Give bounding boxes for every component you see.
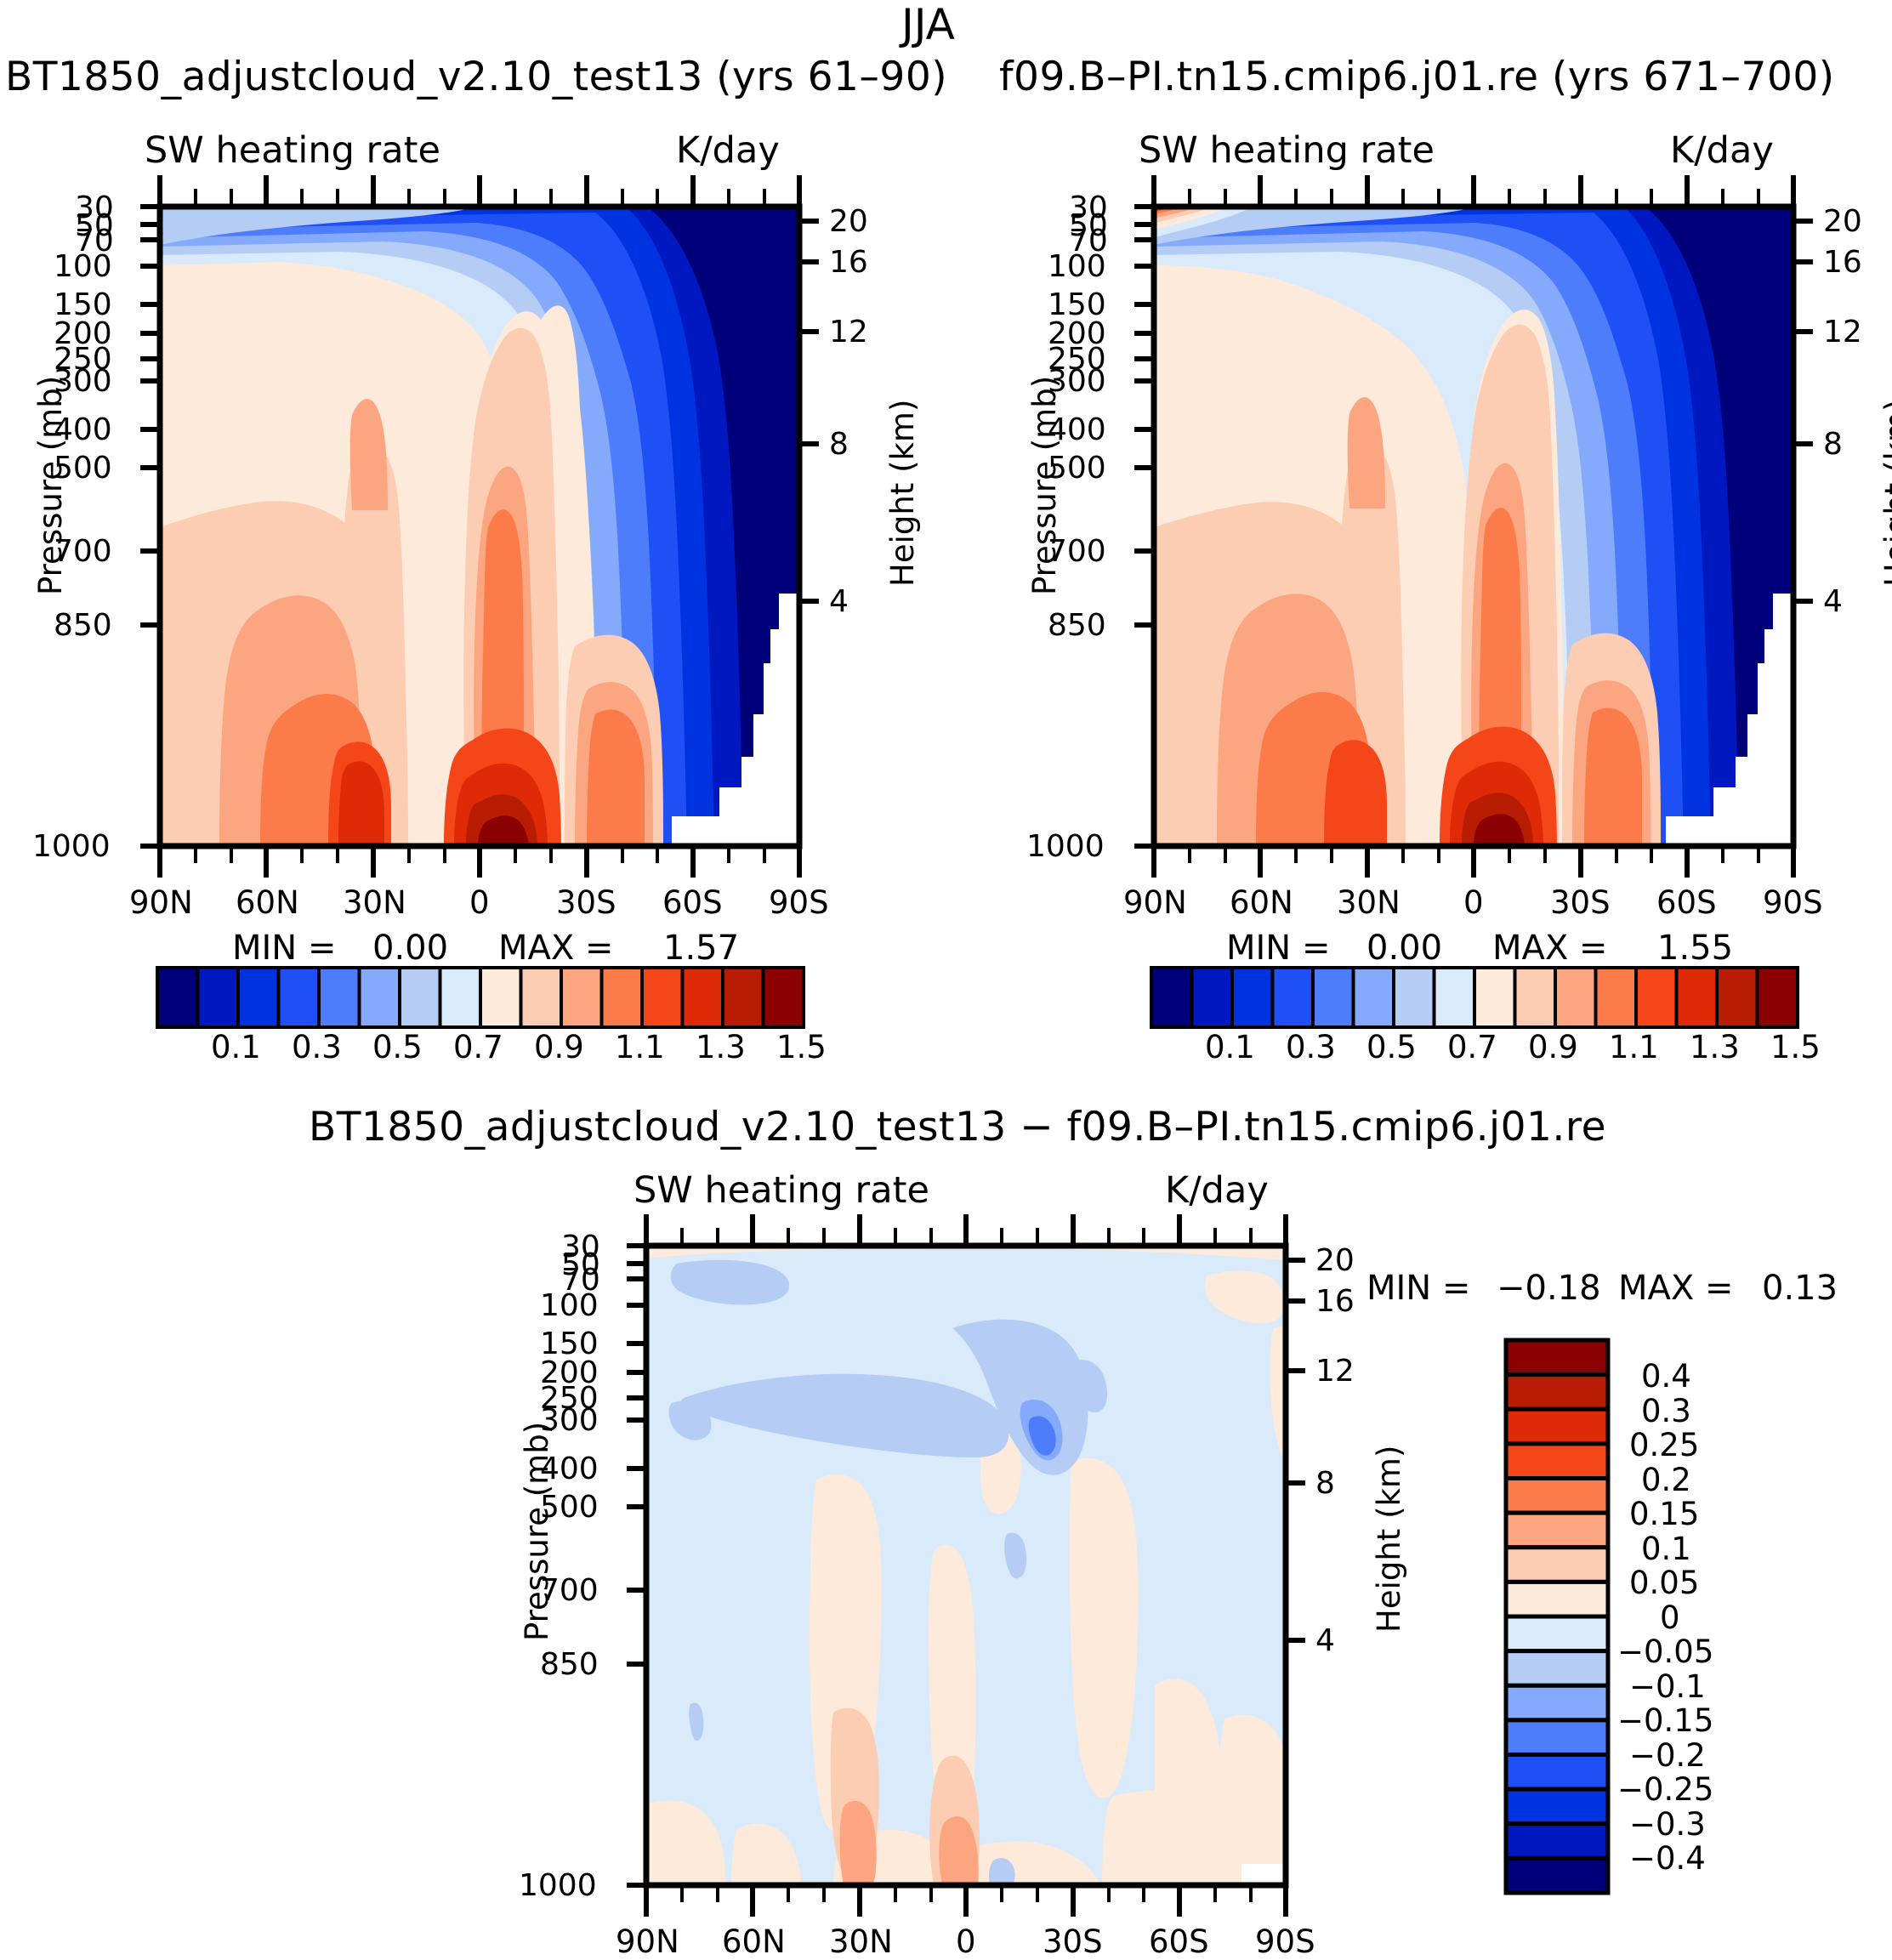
colorbar-swatch <box>561 968 602 1027</box>
colorbar-swatch <box>279 968 320 1027</box>
y2-tick-label-20-diff: 20 <box>1315 1243 1355 1278</box>
colorbar-swatch <box>238 968 279 1027</box>
colorbar-swatch <box>1636 968 1677 1027</box>
max-value-diff: 0.13 <box>1762 1269 1838 1308</box>
colorbar-swatch <box>480 968 521 1027</box>
colorbar-diff-label-11: −0.2 <box>1629 1737 1706 1774</box>
colorbar-swatch <box>1506 1616 1608 1651</box>
y-tick-label-1000-left: 1000 <box>32 829 111 864</box>
y2-tick-label-8-right: 8 <box>1823 427 1843 462</box>
x-tick-label-30S-left: 30S <box>556 884 616 921</box>
y-tick-label-850-diff: 850 <box>540 1647 599 1682</box>
x-tick-label-30N-right: 30N <box>1337 884 1401 921</box>
y-tick-label-500-left: 500 <box>54 451 112 486</box>
y2-tick-label-12-diff: 12 <box>1315 1354 1355 1389</box>
x-tick-label-90N-diff: 90N <box>616 1923 679 1960</box>
y-tick-label-100-diff: 100 <box>540 1288 599 1323</box>
y2-tick-label-4-diff: 4 <box>1315 1623 1335 1658</box>
colorbar-swatch <box>642 968 683 1027</box>
var-label-diff: SW heating rate <box>634 1169 929 1212</box>
x-ticks-left <box>160 846 799 878</box>
colorbar-swatch <box>198 968 239 1027</box>
y-tick-label-100-left: 100 <box>54 249 112 284</box>
colorbar-swatch <box>1313 968 1354 1027</box>
colorbar-diff-label-14: −0.4 <box>1629 1840 1706 1877</box>
max-label-right: MAX = <box>1492 929 1608 968</box>
x-ticks-right <box>1154 846 1793 878</box>
colorbar-swatch <box>1506 1651 1608 1686</box>
x-tick-label-90S-right: 90S <box>1763 884 1823 921</box>
y2-tick-label-20-left: 20 <box>829 204 868 239</box>
colorbar-swatch <box>1506 1513 1608 1548</box>
x-tick-label-60S-right: 60S <box>1656 884 1717 921</box>
colorbar-diff-label-6: 0.05 <box>1629 1565 1699 1601</box>
min-label-right: MIN = <box>1226 929 1330 968</box>
x-tick-label-30N-diff: 30N <box>829 1923 893 1960</box>
colorbar-swatch <box>723 968 764 1027</box>
colorbar-swatch <box>1506 1755 1608 1790</box>
colorbar-swatch <box>1506 1685 1608 1720</box>
contour-field-left <box>160 207 799 846</box>
colorbar-swatch <box>157 968 198 1027</box>
y2-tick-label-4-left: 4 <box>829 584 849 619</box>
colorbar-swatch <box>1394 968 1435 1027</box>
colorbar-swatch <box>683 968 724 1027</box>
colorbar-swatch <box>1192 968 1233 1027</box>
min-value-right: 0.00 <box>1366 929 1442 968</box>
colorbar-diff-label-10: −0.15 <box>1617 1702 1713 1739</box>
colorbar-left-label-7: 1.5 <box>776 1029 827 1065</box>
colorbar-swatch <box>1474 968 1515 1027</box>
colorbar-swatch <box>1506 1479 1608 1514</box>
x-tick-label-30S-right: 30S <box>1550 884 1611 921</box>
x-tick-label-60N-right: 60N <box>1230 884 1293 921</box>
colorbar-diff-label-5: 0.1 <box>1641 1531 1691 1567</box>
colorbar-diff-label-12: −0.25 <box>1617 1771 1713 1808</box>
y-tick-label-300-diff: 300 <box>540 1403 599 1438</box>
units-label-diff: K/day <box>1165 1169 1269 1212</box>
max-label-left: MAX = <box>498 929 614 968</box>
colorbar-right[interactable] <box>1151 968 1798 1027</box>
colorbar-left-label-6: 1.3 <box>696 1029 746 1065</box>
x-tick-label-60S-left: 60S <box>662 884 723 921</box>
x-tick-label-90S-left: 90S <box>769 884 829 921</box>
colorbar-swatch <box>400 968 440 1027</box>
min-value-left: 0.00 <box>372 929 448 968</box>
y-tick-label-700-right: 700 <box>1048 534 1106 569</box>
y-tick-label-1000-right: 1000 <box>1026 829 1105 864</box>
panel-title-right: f09.B–PI.tn15.cmip6.j01.re (yrs 671–700) <box>999 54 1835 100</box>
units-label-left: K/day <box>676 129 780 172</box>
colorbar-left-swatches[interactable] <box>157 968 804 1027</box>
colorbar-left-label-3: 0.7 <box>453 1029 503 1065</box>
colorbar-left-label-5: 1.1 <box>615 1029 665 1065</box>
x-tick-label-30S-diff: 30S <box>1043 1923 1103 1960</box>
colorbar-swatch <box>1273 968 1314 1027</box>
max-value-right: 1.55 <box>1657 929 1733 968</box>
season-title: JJA <box>901 0 955 49</box>
var-label-right: SW heating rate <box>1139 129 1435 172</box>
colorbar-left[interactable] <box>157 968 804 1027</box>
colorbar-diff-label-2: 0.25 <box>1629 1427 1699 1463</box>
min-label-left: MIN = <box>232 929 336 968</box>
y-tick-label-1000-diff: 1000 <box>519 1868 597 1903</box>
x-ticks-diff <box>646 1885 1286 1917</box>
y2-tick-label-12-left: 12 <box>829 315 868 349</box>
colorbar-swatch <box>360 968 401 1027</box>
colorbar-swatch <box>1506 1824 1608 1859</box>
colorbar-right-label-6: 1.3 <box>1690 1029 1740 1065</box>
y2-tick-label-8-left: 8 <box>829 427 849 462</box>
colorbar-right-label-1: 0.3 <box>1286 1029 1336 1065</box>
colorbar-swatch <box>1506 1582 1608 1616</box>
y2-tick-label-16-diff: 16 <box>1315 1284 1355 1319</box>
y2-tick-label-20-right: 20 <box>1823 204 1862 239</box>
y-tick-label-850-right: 850 <box>1048 608 1106 643</box>
y-tick-label-850-left: 850 <box>54 608 112 643</box>
colorbar-swatch <box>764 968 804 1027</box>
colorbar-swatch <box>1555 968 1596 1027</box>
x-tick-label-60S-diff: 60S <box>1149 1923 1209 1960</box>
y-tick-label-300-left: 300 <box>54 364 112 399</box>
colorbar-swatch <box>1758 968 1798 1027</box>
x-tick-label-90N-right: 90N <box>1123 884 1187 921</box>
colorbar-swatch <box>1506 1789 1608 1824</box>
x-top-ticks-left <box>160 175 799 207</box>
colorbar-right-swatches[interactable] <box>1151 968 1798 1027</box>
y2-tick-label-12-right: 12 <box>1823 315 1862 349</box>
colorbar-swatch <box>1151 968 1192 1027</box>
contour-field-right <box>1154 207 1793 846</box>
colorbar-diff-label-4: 0.15 <box>1629 1496 1699 1532</box>
max-label-diff: MAX = <box>1618 1269 1734 1308</box>
colorbar-swatch <box>1506 1548 1608 1582</box>
colorbar-swatch <box>1515 968 1556 1027</box>
colorbar-swatch <box>1506 1444 1608 1479</box>
plot-area-left <box>0 170 901 918</box>
y2-tick-label-16-left: 16 <box>829 245 868 280</box>
panel-title-diff: BT1850_adjustcloud_v2.10_test13 − f09.B–… <box>309 1104 1606 1150</box>
panel-title-left: BT1850_adjustcloud_v2.10_test13 (yrs 61–… <box>5 54 947 100</box>
colorbar-left-label-0: 0.1 <box>211 1029 261 1065</box>
colorbar-swatch <box>440 968 481 1027</box>
colorbar-left-label-2: 0.5 <box>372 1029 423 1065</box>
plot-area-diff <box>476 1209 1386 1957</box>
colorbar-diff-label-3: 0.2 <box>1641 1462 1691 1498</box>
colorbar-diff-label-7: 0 <box>1660 1599 1680 1636</box>
colorbar-right-label-3: 0.7 <box>1447 1029 1497 1065</box>
colorbar-diff-label-9: −0.1 <box>1629 1668 1706 1705</box>
x-tick-label-60N-diff: 60N <box>722 1923 786 1960</box>
y-tick-label-400-diff: 400 <box>540 1452 599 1486</box>
x-tick-label-90N-left: 90N <box>129 884 193 921</box>
y2-tick-label-4-right: 4 <box>1823 584 1843 619</box>
min-label-diff: MIN = <box>1366 1269 1470 1308</box>
colorbar-swatch <box>1506 1409 1608 1444</box>
colorbar-diff-swatches[interactable] <box>1506 1340 1608 1893</box>
y-tick-label-500-diff: 500 <box>540 1490 599 1525</box>
plot-area-right <box>994 170 1892 918</box>
colorbar-diff-label-8: −0.05 <box>1617 1633 1713 1670</box>
colorbar-left-label-4: 0.9 <box>534 1029 584 1065</box>
colorbar-swatch <box>1677 968 1718 1027</box>
x-tick-label-0-right: 0 <box>1463 884 1484 921</box>
y-tick-label-700-left: 700 <box>54 534 112 569</box>
y-tick-label-100-right: 100 <box>1048 249 1106 284</box>
colorbar-right-label-4: 0.9 <box>1528 1029 1578 1065</box>
max-value-left: 1.57 <box>663 929 739 968</box>
y2-tick-label-16-right: 16 <box>1823 245 1862 280</box>
x-tick-label-30N-left: 30N <box>343 884 406 921</box>
y2-tick-label-8-diff: 8 <box>1315 1466 1335 1501</box>
contour-field-diff <box>646 1246 1286 1885</box>
colorbar-swatch <box>1354 968 1395 1027</box>
colorbar-swatch <box>1435 968 1475 1027</box>
y-tick-label-400-left: 400 <box>54 412 112 447</box>
x-tick-label-0-left: 0 <box>469 884 490 921</box>
colorbar-right-label-7: 1.5 <box>1770 1029 1821 1065</box>
colorbar-swatch <box>1596 968 1637 1027</box>
colorbar-swatch <box>1717 968 1758 1027</box>
colorbar-swatch <box>1506 1720 1608 1755</box>
colorbar-swatch <box>602 968 643 1027</box>
colorbar-left-label-1: 0.3 <box>292 1029 342 1065</box>
x-tick-label-0-diff: 0 <box>956 1923 976 1960</box>
colorbar-right-label-2: 0.5 <box>1366 1029 1417 1065</box>
colorbar-swatch <box>1506 1340 1608 1375</box>
colorbar-diff[interactable] <box>1506 1340 1608 1893</box>
min-value-diff: −0.18 <box>1497 1269 1601 1308</box>
colorbar-diff-label-0: 0.4 <box>1641 1358 1691 1395</box>
x-tick-label-60N-left: 60N <box>236 884 299 921</box>
colorbar-swatch <box>1506 1858 1608 1893</box>
colorbar-swatch <box>319 968 360 1027</box>
x-top-ticks-right <box>1154 175 1793 207</box>
colorbar-swatch <box>521 968 562 1027</box>
colorbar-swatch <box>1506 1375 1608 1410</box>
x-top-ticks-diff <box>646 1214 1286 1246</box>
var-label-left: SW heating rate <box>145 129 440 172</box>
y-tick-label-400-right: 400 <box>1048 412 1106 447</box>
y-tick-label-300-right: 300 <box>1048 364 1106 399</box>
units-label-right: K/day <box>1670 129 1774 172</box>
y-tick-label-700-diff: 700 <box>540 1573 599 1608</box>
colorbar-diff-label-1: 0.3 <box>1641 1393 1691 1429</box>
colorbar-diff-label-13: −0.3 <box>1629 1806 1706 1843</box>
x-tick-label-90S-diff: 90S <box>1255 1923 1315 1960</box>
y-tick-label-500-right: 500 <box>1048 451 1106 486</box>
colorbar-right-label-0: 0.1 <box>1205 1029 1255 1065</box>
colorbar-swatch <box>1232 968 1273 1027</box>
colorbar-right-label-5: 1.1 <box>1609 1029 1659 1065</box>
